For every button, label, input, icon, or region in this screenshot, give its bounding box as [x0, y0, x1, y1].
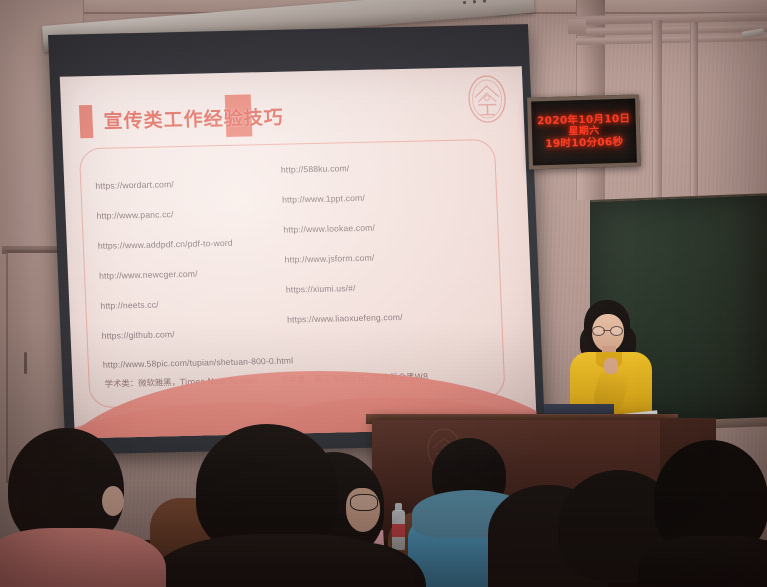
link-left-3[interactable]: https://www.addpdf.cn/pdf-to-word	[98, 238, 233, 251]
link-left-5[interactable]: http://neets.cc/	[100, 300, 159, 311]
junction-box	[568, 18, 586, 34]
wall-pipe-vertical-2	[690, 22, 698, 202]
link-right-2[interactable]: http://www.1ppt.com/	[282, 193, 365, 205]
presenter-hand	[604, 358, 618, 374]
audience-right-back	[650, 440, 767, 587]
lecture-hall-photo: 宣传类工作经验技巧 https://wordart.com/ http://ww…	[0, 0, 767, 587]
led-clock-time: 19时10分06秒	[545, 137, 623, 150]
link-left-2[interactable]: http://www.panc.cc/	[96, 209, 173, 221]
slide-title-row: 宣传类工作经验技巧	[79, 94, 500, 139]
link-wide[interactable]: http://www.58pic.com/tupian/shetuan-800-…	[103, 355, 294, 369]
link-left-4[interactable]: http://www.newcger.com/	[99, 269, 198, 281]
audience-pink-shirt	[0, 428, 158, 587]
link-right-4[interactable]: http://www.jsform.com/	[284, 253, 374, 265]
link-right-6[interactable]: https://www.liaoxuefeng.com/	[287, 312, 403, 325]
wall-pipe-vertical-1	[652, 20, 662, 200]
audience-dark-foreground	[166, 424, 396, 587]
link-right-3[interactable]: http://www.lookae.com/	[283, 223, 375, 235]
link-panel: https://wordart.com/ http://www.panc.cc/…	[79, 139, 506, 408]
audience-pink-ear	[102, 486, 124, 516]
presentation-slide: 宣传类工作经验技巧 https://wordart.com/ http://ww…	[60, 66, 537, 438]
link-left-1[interactable]: https://wordart.com/	[95, 179, 174, 191]
projection-screen: 宣传类工作经验技巧 https://wordart.com/ http://ww…	[48, 24, 546, 455]
link-list: https://wordart.com/ http://www.panc.cc/…	[80, 140, 505, 407]
audience-dark-body	[152, 534, 414, 587]
link-left-6[interactable]: https://github.com/	[101, 329, 174, 341]
audience-pink-body	[0, 528, 166, 587]
audience-right-back-body	[638, 536, 767, 587]
presenter-glasses-icon	[592, 326, 623, 334]
door-handle[interactable]	[24, 352, 27, 374]
housing-vents	[461, 0, 487, 5]
link-right-1[interactable]: http://588ku.com/	[281, 163, 350, 175]
slide-title: 宣传类工作经验技巧	[103, 103, 284, 134]
led-clock: 2020年10月10日 星期六 19时10分06秒	[527, 94, 641, 169]
link-right-5[interactable]: https://xiumi.us/#/	[286, 283, 356, 295]
title-accent-bar-left	[79, 105, 93, 138]
